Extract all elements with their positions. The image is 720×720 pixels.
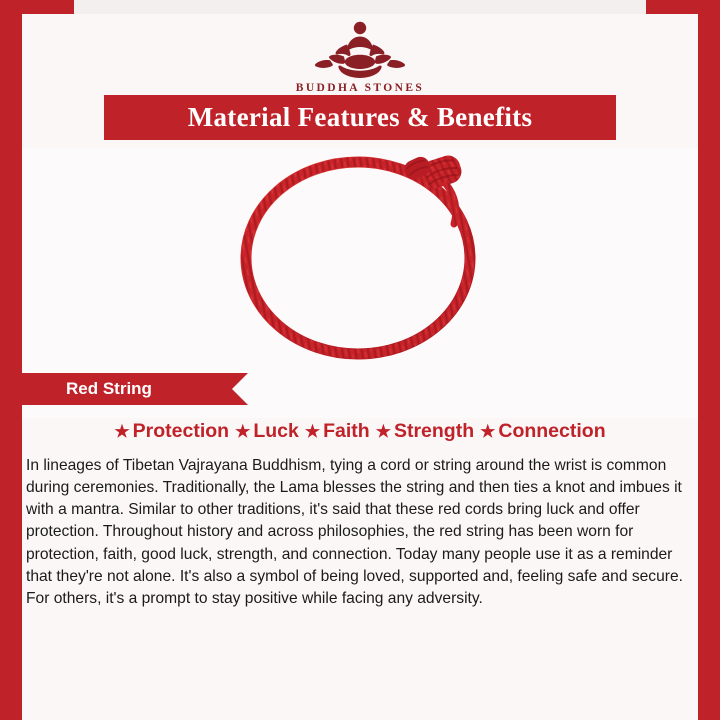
infographic-page: BUDDHA STONES Material Features & Benefi…	[0, 0, 720, 720]
star-icon: ★	[235, 422, 250, 442]
description-text: In lineages of Tibetan Vajrayana Buddhis…	[26, 455, 698, 610]
brand-logo: BUDDHA STONES	[0, 16, 720, 94]
keyword-item: ★ Connection	[480, 420, 606, 443]
frame-bar-right-bottom	[698, 424, 720, 720]
keyword-label: Faith	[323, 420, 370, 443]
star-icon: ★	[305, 422, 320, 442]
keyword-item: ★ Protection	[114, 420, 229, 443]
product-label: Red String	[22, 379, 152, 399]
keyword-item: ★ Faith	[305, 420, 370, 443]
frame-notch-top-left	[22, 0, 74, 14]
keyword-label: Connection	[498, 420, 605, 443]
keyword-label: Protection	[133, 420, 229, 443]
frame-bar-left-bottom	[0, 424, 22, 720]
red-braided-string-bracelet-icon	[210, 150, 510, 370]
brand-name: BUDDHA STONES	[296, 82, 424, 94]
keyword-label: Luck	[253, 420, 299, 443]
star-icon: ★	[376, 422, 391, 442]
frame-notch-top-right	[646, 0, 698, 14]
lotus-meditation-icon	[300, 16, 420, 78]
star-icon: ★	[114, 422, 129, 442]
frame-bar-right-middle	[698, 232, 720, 424]
product-image	[22, 150, 698, 375]
keyword-label: Strength	[394, 420, 474, 443]
title-banner: Material Features & Benefits	[104, 95, 616, 140]
keyword-item: ★ Strength	[376, 420, 474, 443]
star-icon: ★	[480, 422, 495, 442]
product-label-tag: Red String	[22, 373, 232, 405]
frame-bar-left-middle	[0, 232, 22, 424]
keyword-item: ★ Luck	[235, 420, 299, 443]
keyword-list: ★ Protection ★ Luck ★ Faith ★ Strength ★…	[22, 420, 698, 443]
page-title: Material Features & Benefits	[188, 102, 533, 133]
